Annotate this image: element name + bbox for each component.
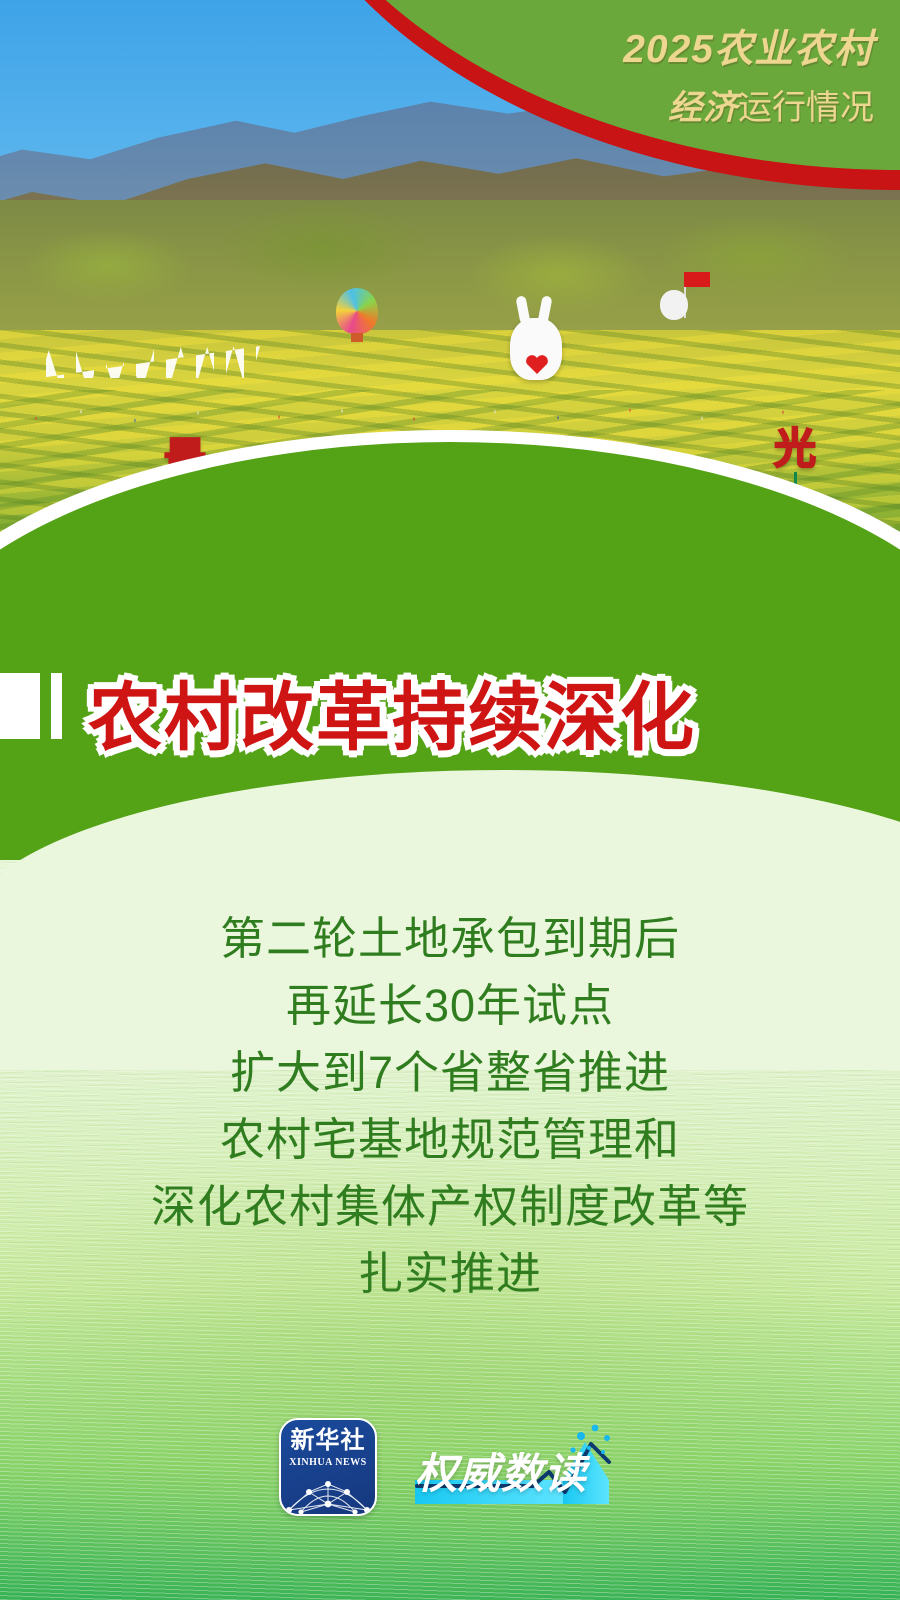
body-line: 第二轮土地承包到期后 bbox=[0, 905, 900, 972]
field-sign-4: 光 bbox=[774, 428, 816, 470]
title-accent-bar-wide bbox=[0, 673, 40, 739]
title-accent-gap bbox=[40, 673, 51, 739]
xinhua-logo-en-text: XINHUA NEWS bbox=[289, 1457, 366, 1468]
series-logo[interactable]: 权威数读 bbox=[413, 1418, 621, 1522]
poster-root: 最 美 春 光 2025农业农村 经济运行情况 农村改革持续深化 第二轮土地承包… bbox=[0, 0, 900, 1600]
body-text-block: 第二轮土地承包到期后 再延长30年试点 扩大到7个省整省推进 农村宅基地规范管理… bbox=[0, 905, 900, 1307]
xinhua-logo-cn-text: 新华社 bbox=[291, 1429, 366, 1453]
title-accent-bars bbox=[0, 673, 62, 739]
visitors-crowd bbox=[0, 398, 900, 432]
series-logo-text: 权威数读 bbox=[415, 1440, 587, 1501]
body-line: 扩大到7个省整省推进 bbox=[0, 1039, 900, 1106]
page-title: 农村改革持续深化 bbox=[88, 658, 696, 765]
header-line-2-bold: 经济 bbox=[668, 89, 738, 127]
footer-logos: 新华社 XINHUA NEWS bbox=[0, 1418, 900, 1558]
xinhua-news-logo[interactable]: 新华社 XINHUA NEWS bbox=[279, 1418, 377, 1516]
network-dome-icon bbox=[281, 1470, 375, 1516]
panda-mascot-icon bbox=[660, 290, 688, 320]
hot-air-balloon-icon bbox=[336, 288, 378, 334]
body-line: 扎实推进 bbox=[0, 1240, 900, 1307]
header-line-2-normal: 运行情况 bbox=[738, 89, 874, 127]
header-title-group: 2025农业农村 经济运行情况 bbox=[623, 18, 874, 129]
title-accent-bar-narrow bbox=[51, 673, 62, 739]
header-line-2: 经济运行情况 bbox=[623, 80, 874, 129]
body-line: 农村宅基地规范管理和 bbox=[0, 1106, 900, 1173]
header-line-1: 2025农业农村 bbox=[623, 18, 874, 74]
body-line: 深化农村集体产权制度改革等 bbox=[0, 1173, 900, 1240]
body-line: 再延长30年试点 bbox=[0, 972, 900, 1039]
